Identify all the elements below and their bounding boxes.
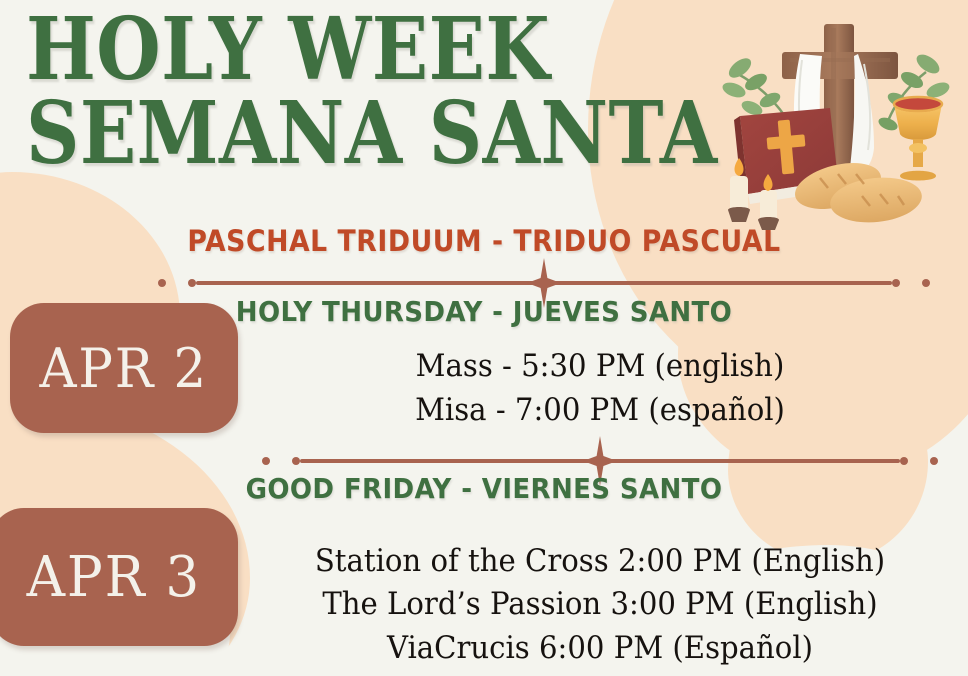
schedule-line: ViaCrucis 6:00 PM (Español) <box>254 627 946 670</box>
golden-chalice-icon <box>894 97 942 181</box>
dot-icon <box>292 457 300 465</box>
schedule-line: The Lord’s Passion 3:00 PM (English) <box>254 583 946 626</box>
divider-dots-left <box>158 279 196 287</box>
date-badge-label: APR 3 <box>27 545 202 610</box>
schedule-line: Station of the Cross 2:00 PM (English) <box>254 540 946 583</box>
holy-week-watercolor-illustration <box>698 8 960 230</box>
date-badge-apr-2: APR 2 <box>10 303 238 433</box>
dot-icon <box>158 279 166 287</box>
schedule-holy-thursday: Mass - 5:30 PM (english) Misa - 7:00 PM … <box>232 344 968 432</box>
date-badge-label: APR 2 <box>40 337 209 400</box>
divider-top <box>0 268 968 298</box>
divider-dots-left <box>262 457 300 465</box>
title-line-spanish: SEMANA SANTA <box>26 92 628 176</box>
dot-icon <box>922 279 930 287</box>
divider-rule <box>300 459 900 463</box>
section-heading-good-friday: GOOD FRIDAY - VIERNES SANTO <box>34 472 934 505</box>
dot-icon <box>188 279 196 287</box>
divider-dots-right <box>900 457 938 465</box>
dot-icon <box>900 457 908 465</box>
title-line-english: HOLY WEEK <box>26 8 628 92</box>
date-badge-apr-3: APR 3 <box>0 508 238 646</box>
schedule-line: Mass - 5:30 PM (english) <box>254 344 946 388</box>
dot-icon <box>892 279 900 287</box>
poster-canvas: HOLY WEEK SEMANA SANTA PASCHAL TRIDUUM -… <box>0 0 968 676</box>
divider-dots-right <box>892 279 930 287</box>
dot-icon <box>262 457 270 465</box>
schedule-line: Misa - 7:00 PM (español) <box>254 388 946 432</box>
schedule-good-friday: Station of the Cross 2:00 PM (English) T… <box>232 540 968 670</box>
page-title: HOLY WEEK SEMANA SANTA <box>26 8 726 177</box>
dot-icon <box>930 457 938 465</box>
divider-rule <box>196 281 892 285</box>
